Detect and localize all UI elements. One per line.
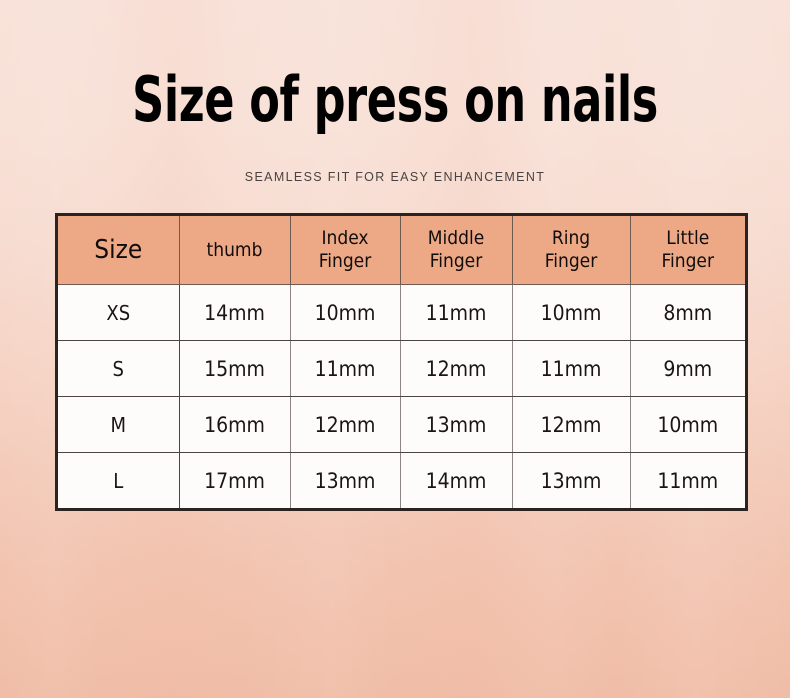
cell-thumb: 16mm (179, 397, 290, 453)
cell-thumb: 14mm (179, 285, 290, 341)
column-header-index-finger: Index Finger (290, 216, 400, 285)
header-line: Finger (293, 250, 398, 273)
cell-little: 8mm (630, 285, 745, 341)
cell-index: 12mm (290, 397, 400, 453)
header-line: Finger (633, 250, 744, 273)
table-row: S 15mm 11mm 12mm 11mm 9mm (58, 341, 745, 397)
column-header-size: Size (58, 216, 179, 285)
header-line: Size (60, 239, 177, 262)
cell-size: M (58, 397, 179, 453)
cell-ring: 13mm (512, 453, 630, 509)
cell-index: 10mm (290, 285, 400, 341)
column-header-ring-finger: Ring Finger (512, 216, 630, 285)
cell-ring: 12mm (512, 397, 630, 453)
cell-ring: 11mm (512, 341, 630, 397)
page-subtitle: SEAMLESS FIT FOR EASY ENHANCEMENT (0, 170, 790, 184)
header-line: Index (293, 227, 398, 250)
cell-size: S (58, 341, 179, 397)
size-chart-poster: Size of press on nails SEAMLESS FIT FOR … (0, 0, 790, 698)
cell-index: 11mm (290, 341, 400, 397)
table-row: M 16mm 12mm 13mm 12mm 10mm (58, 397, 745, 453)
page-title: Size of press on nails (79, 66, 711, 134)
header-line: thumb (182, 239, 288, 262)
cell-middle: 13mm (400, 397, 512, 453)
cell-little: 11mm (630, 453, 745, 509)
cell-size: XS (58, 285, 179, 341)
header-line: Ring (515, 227, 628, 250)
cell-index: 13mm (290, 453, 400, 509)
size-table-container: Size thumb Index Finger Middle Finger Ri (55, 213, 748, 511)
cell-ring: 10mm (512, 285, 630, 341)
column-header-middle-finger: Middle Finger (400, 216, 512, 285)
size-table: Size thumb Index Finger Middle Finger Ri (58, 216, 745, 508)
cell-little: 10mm (630, 397, 745, 453)
cell-middle: 11mm (400, 285, 512, 341)
cell-middle: 14mm (400, 453, 512, 509)
header-line: Finger (515, 250, 628, 273)
table-header: Size thumb Index Finger Middle Finger Ri (58, 216, 745, 285)
cell-middle: 12mm (400, 341, 512, 397)
cell-little: 9mm (630, 341, 745, 397)
header-row: Size thumb Index Finger Middle Finger Ri (58, 216, 745, 285)
cell-size: L (58, 453, 179, 509)
header-line: Little (633, 227, 744, 250)
header-line: Finger (403, 250, 510, 273)
table-body: XS 14mm 10mm 11mm 10mm 8mm S 15mm 11mm 1… (58, 285, 745, 509)
column-header-little-finger: Little Finger (630, 216, 745, 285)
cell-thumb: 17mm (179, 453, 290, 509)
header-line: Middle (403, 227, 510, 250)
cell-thumb: 15mm (179, 341, 290, 397)
table-row: XS 14mm 10mm 11mm 10mm 8mm (58, 285, 745, 341)
table-row: L 17mm 13mm 14mm 13mm 11mm (58, 453, 745, 509)
column-header-thumb: thumb (179, 216, 290, 285)
